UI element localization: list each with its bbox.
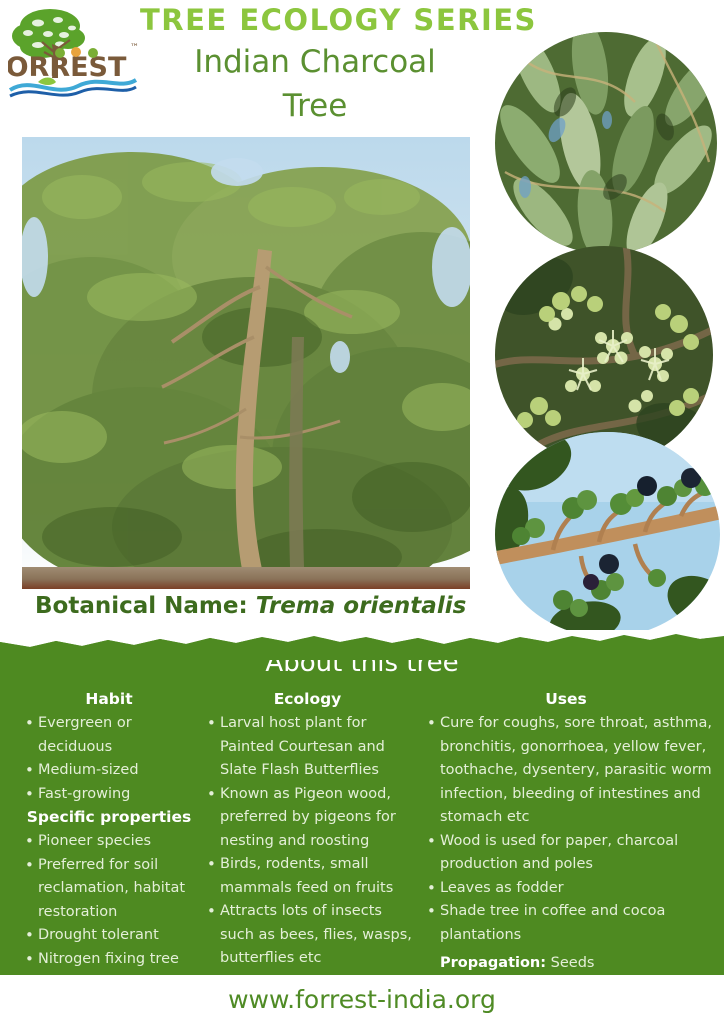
list-item: Medium-sized [38, 759, 200, 783]
series-title: TREE ECOLOGY SERIES [140, 2, 490, 38]
list-item: Birds, rodents, small mammals feed on fr… [220, 853, 415, 900]
list-item: Pioneer species [38, 830, 200, 854]
column-heading-habit: Habit [18, 688, 200, 710]
column-subheading-specific-properties: Specific properties [18, 806, 200, 828]
botanical-name-label: Botanical Name: [35, 593, 248, 619]
logo-trademark-icon: ™ [130, 43, 138, 53]
list-item: Nitrogen fixing tree [38, 948, 200, 972]
propagation-label: Propagation: [440, 955, 546, 971]
column-habit: Habit Evergreen or deciduous Medium-size… [18, 688, 200, 971]
logo-wordmark: ORREST [8, 52, 127, 83]
fruits-photo [495, 432, 720, 637]
tree-name-line2: Tree [140, 86, 490, 126]
list-item: Leaves as fodder [440, 877, 712, 901]
column-uses: Uses Cure for coughs, sore throat, asthm… [420, 688, 712, 976]
column-heading-uses: Uses [420, 688, 712, 710]
column-ecology: Ecology Larval host plant for Painted Co… [200, 688, 415, 971]
list-item: Known as Pigeon wood, preferred by pigeo… [220, 783, 415, 854]
habit-list: Evergreen or deciduous Medium-sized Fast… [18, 712, 200, 806]
title-block: TREE ECOLOGY SERIES Indian Charcoal Tree [140, 0, 490, 126]
tree-habit-photo [22, 137, 470, 589]
column-heading-ecology: Ecology [200, 688, 415, 710]
about-title: About this tree [0, 648, 724, 678]
forrest-logo: ORREST ™ [8, 6, 138, 98]
list-item: Drought tolerant [38, 924, 200, 948]
website-url[interactable]: www.forrest-india.org [228, 985, 496, 1014]
poster-footer: www.forrest-india.org [0, 975, 724, 1024]
leaves-photo [495, 32, 717, 254]
about-panel: About this tree Habit Evergreen or decid… [0, 638, 724, 975]
list-item: Wood is used for paper, charcoal product… [440, 830, 712, 877]
list-item: Evergreen or deciduous [38, 712, 200, 759]
ecology-list: Larval host plant for Painted Courtesan … [200, 712, 415, 971]
botanical-name: Botanical Name: Trema orientalis [35, 593, 466, 619]
photo-foliage [22, 137, 470, 589]
list-item: Fast-growing [38, 783, 200, 807]
photo-stone-wall [22, 567, 470, 589]
list-item: Larval host plant for Painted Courtesan … [220, 712, 415, 783]
specific-properties-list: Pioneer species Preferred for soil recla… [18, 830, 200, 971]
uses-list: Cure for coughs, sore throat, asthma, br… [420, 712, 712, 947]
list-item: Shade tree in coffee and cocoa plantatio… [440, 900, 712, 947]
list-item: Preferred for soil reclamation, habitat … [38, 854, 200, 925]
list-item: Attracts lots of insects such as bees, f… [220, 900, 415, 971]
scientific-name: Trema orientalis [256, 593, 467, 619]
list-item: Cure for coughs, sore throat, asthma, br… [440, 712, 712, 830]
tree-name-line1: Indian Charcoal [140, 42, 490, 82]
propagation-line: Propagation: Seeds [420, 952, 712, 976]
propagation-value: Seeds [551, 955, 595, 971]
